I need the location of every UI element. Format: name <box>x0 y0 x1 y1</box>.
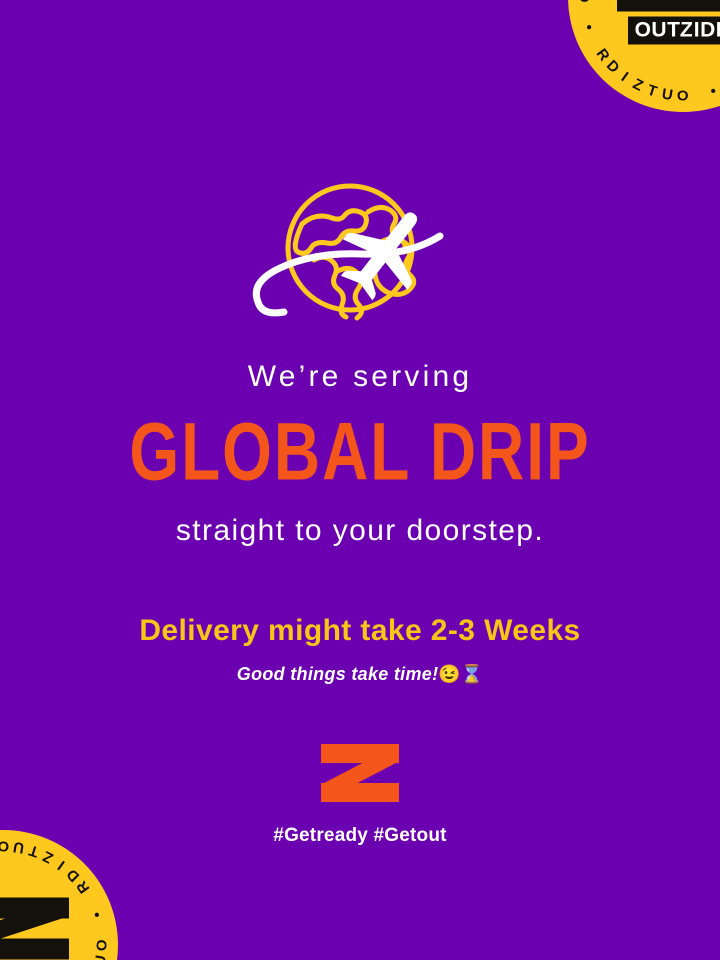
wink-hourglass-emoji: 😉⌛ <box>438 664 483 684</box>
tagline-text: Good things take time! <box>237 664 439 684</box>
outzidr-z-logo-icon <box>0 898 69 960</box>
badge-top-right: OUTZIDR•OUTZIDR•OUTZIDR•OUTZIDR• OUTZIDR <box>568 0 720 112</box>
badge-bottom-left: OUTZIDR•OUTZIDR•OUTZIDR•OUTZIDR• OUTZIDR <box>0 830 118 960</box>
delivery-notice: Delivery might take 2-3 Weeks <box>0 616 720 646</box>
tagline: Good things take time!😉⌛ <box>0 665 720 683</box>
subline-text: straight to your doorstep. <box>0 516 720 546</box>
globe-with-airplane-icon <box>240 176 480 336</box>
hero-illustration <box>0 176 720 336</box>
badge-core-bottom-left: OUTZIDR <box>0 898 79 960</box>
footer-lockup: #Getready #Getout <box>0 744 720 845</box>
badge-wordmark: OUTZIDR <box>628 17 720 45</box>
hashtags-text: #Getready #Getout <box>273 826 446 845</box>
copy-block: We’re serving GLOBAL DRIP straight to yo… <box>0 362 720 683</box>
outzidr-z-logo-icon <box>617 0 720 12</box>
badge-core-top-right: OUTZIDR <box>607 0 720 45</box>
outzidr-z-logo-icon <box>321 744 399 802</box>
wordmark-z: Z <box>680 20 694 41</box>
promo-poster: OUTZIDR•OUTZIDR•OUTZIDR•OUTZIDR• OUTZIDR… <box>0 0 720 960</box>
page-title: GLOBAL DRIP <box>11 410 709 492</box>
wordmark-suffix: IDR <box>694 19 720 42</box>
wordmark-prefix: OUT <box>635 19 681 42</box>
kicker-text: We’re serving <box>0 362 720 392</box>
